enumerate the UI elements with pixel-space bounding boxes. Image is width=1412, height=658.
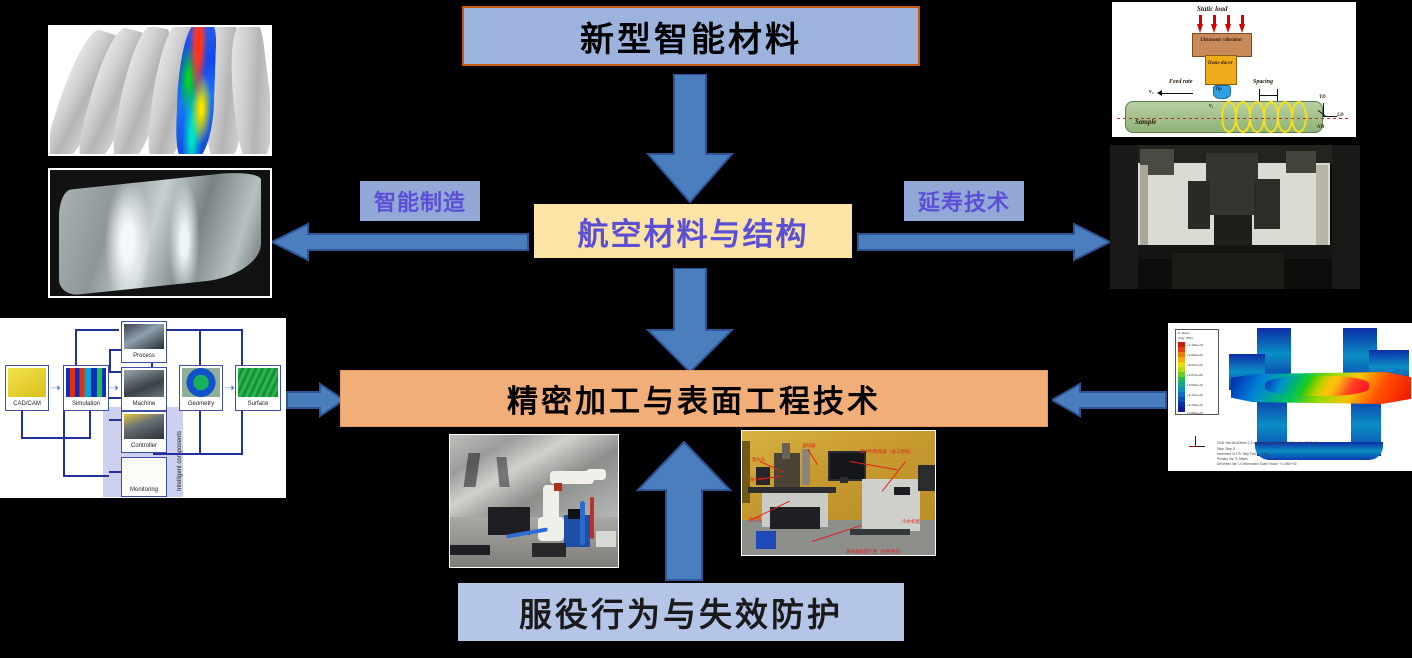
sheet-metal-panel [59, 169, 261, 296]
fea-footer-line: Deformed Var: U Deformation Scale Factor… [1217, 462, 1297, 466]
lab-annotation-label: 冷水机组 [902, 519, 920, 525]
fea-footer-line: Increment 11779: Step Time = 1.089 [1217, 452, 1268, 456]
flowchart-node-controller: Controller [121, 411, 167, 453]
image-laser-lab-setup: 激光头 送粉器 保护气 集中控制系统（含工控机） 冷水机组 激光器及配气柜（控制… [741, 430, 936, 556]
label-life-extension-technology[interactable]: 延寿技术 [904, 181, 1024, 221]
flowchart-node-label: Geometry [180, 398, 222, 410]
arrow-top-to-center [644, 74, 736, 204]
flowchart-chevron-icon: ➝ [108, 381, 119, 394]
fea-canvas: S, Mises (Avg: 75%) +1.100e+03 +9.620e+0… [1169, 324, 1411, 470]
fea-legend: S, Mises (Avg: 75%) +1.100e+03 +9.620e+0… [1175, 329, 1219, 415]
flowchart-node-label: Surface [236, 398, 280, 410]
panel-photo-background [50, 170, 270, 296]
usch-label-v2: v₂ [1149, 89, 1154, 95]
node-service-behavior-failure-protection[interactable]: 服役行为与失效防护 [458, 583, 904, 641]
lab-photo: 激光头 送粉器 保护气 集中控制系统（含工控机） 冷水机组 激光器及配气柜（控制… [742, 431, 935, 555]
usch-label-tip: Tip [1215, 87, 1222, 92]
diagram-canvas: Intelligent components [0, 0, 1412, 658]
robot-arm-wrist [586, 469, 606, 480]
usch-axis-td: TD [1319, 95, 1326, 100]
flowchart-node-machine: Machine [121, 367, 167, 411]
usch-label-spacing: Spacing [1253, 79, 1273, 85]
node-aerospace-materials-structures[interactable]: 航空材料与结构 [534, 204, 852, 258]
image-manufacturing-flowchart: Intelligent components [0, 318, 286, 498]
flowchart-node-cadcam: CAD/CAM [5, 365, 49, 411]
arrow-center-to-right [856, 222, 1110, 262]
image-abaqus-fea: S, Mises (Avg: 75%) +1.100e+03 +9.620e+0… [1168, 323, 1412, 471]
label-intelligent-manufacturing[interactable]: 智能制造 [360, 181, 480, 221]
fea-footer-line: Primary Var: S, Mises [1217, 457, 1248, 461]
usch-label-sample: Sample [1135, 118, 1156, 126]
lab-annotation-label: 集中控制系统（含工控机） [860, 449, 914, 455]
image-turbine-blade-simulation [48, 25, 272, 156]
node-new-intelligent-materials[interactable]: 新型智能材料 [462, 6, 920, 66]
flowchart-node-label: Monitoring [122, 484, 166, 496]
flowchart-node-label: Simulation [64, 398, 108, 410]
lab-annotation-label: 送丝机 [748, 517, 762, 523]
fea-legend-title: S, Mises [1178, 331, 1190, 335]
image-formed-sheet-panel [48, 168, 272, 298]
fea-footer-line: ODB: 3de-k6-6Dform-1-1.odb Abaqus/Explic… [1217, 441, 1317, 445]
turbine-blade-array [50, 27, 270, 154]
lab-annotation-label: 送粉器 [802, 443, 816, 449]
arrow-fea-to-orange [1052, 382, 1168, 418]
flowchart-node-label: Machine [122, 398, 166, 410]
lab-annotation-label: 激光头 [752, 457, 766, 463]
flowchart-node-monitoring: Monitoring [121, 457, 167, 497]
lab-annotation-label: 保护气 [750, 477, 764, 483]
robot-photo [450, 435, 618, 567]
usch-label-ultrasonic-vibration: Ultrasonic vibration [1195, 37, 1247, 45]
usch-label-v1: v₁ [1209, 103, 1214, 109]
usch-axis-nd: ND [1317, 125, 1324, 130]
image-ultrasonic-schematic: Static load Ultrasonic vibration Trans-d… [1112, 2, 1356, 137]
flowchart-chevron-icon: ➝ [224, 381, 235, 394]
image-robot-arm-lab [449, 434, 619, 568]
lab-annotation-label: 激光器及配气柜（控制柜内） [846, 549, 905, 555]
arrow-bottom-to-orange [636, 440, 732, 582]
flowchart-node-surface: Surface [235, 365, 281, 411]
arrow-flowchart-to-orange [286, 382, 344, 418]
arrow-center-to-left [272, 222, 530, 262]
usch-label-feed-rate: Feed rate [1169, 79, 1193, 85]
usch-label-transducer: Trans-ducer [1207, 60, 1233, 67]
flowchart-node-geometry: Geometry [179, 365, 223, 411]
flowchart-node-simulation: Simulation [63, 365, 109, 411]
flowchart-node-process: Process [121, 321, 167, 363]
arrow-center-to-orange [644, 268, 736, 374]
flowchart-group-label: Intelligent components [177, 431, 183, 491]
image-fatigue-test-machine [1110, 145, 1360, 289]
flowchart-node-label: Process [122, 350, 166, 362]
test-machine-photo [1110, 145, 1360, 289]
flowchart-chevron-icon: ➝ [50, 381, 61, 394]
ultrasonic-schematic-canvas: Static load Ultrasonic vibration Trans-d… [1113, 3, 1355, 136]
flowchart-node-label: Controller [122, 440, 166, 452]
usch-label-static-load: Static load [1197, 5, 1228, 13]
node-precision-machining-surface-engineering[interactable]: 精密加工与表面工程技术 [340, 370, 1048, 427]
flowchart-node-label: CAD/CAM [6, 398, 48, 410]
flowchart-canvas: Intelligent components [1, 319, 285, 497]
usch-axis-ld: LD [1337, 113, 1344, 118]
fea-footer-line: Step: Step-5 [1217, 447, 1235, 451]
fea-legend-subtitle: (Avg: 75%) [1178, 336, 1193, 340]
